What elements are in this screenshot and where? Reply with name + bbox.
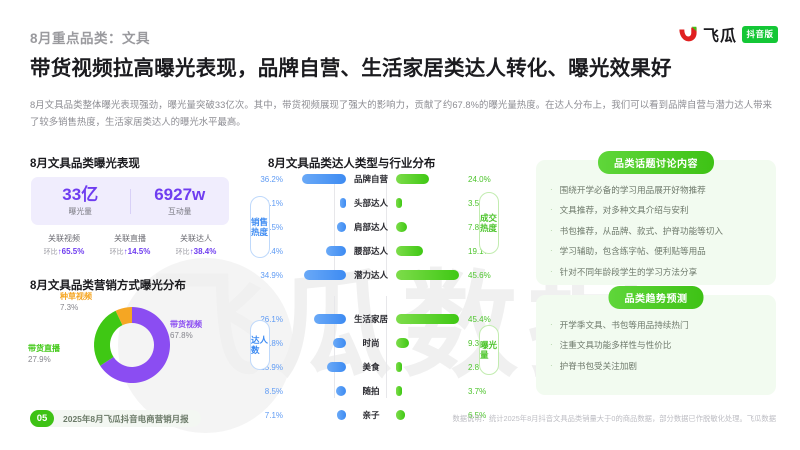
donut-label-0: 带货视频67.8% — [170, 320, 202, 342]
topic-panel-title: 品类话题讨论内容 — [598, 151, 714, 174]
trend-panel-title: 品类趋势预测 — [609, 286, 704, 309]
donut-label-value: 27.9% — [28, 355, 60, 366]
intro-paragraph: 8月文具品类整体曝光表现强劲，曝光量突破33亿次。其中，带货视频展现了强大的影响… — [30, 96, 772, 131]
brand-name: 飞瓜 — [703, 22, 737, 46]
bar-category-label: 腰部达人 — [346, 245, 396, 257]
sub-stat-live-delta: 环比↑14.5% — [97, 247, 163, 257]
sub-stat-video-value: ↑65.5% — [58, 247, 85, 256]
marketing-donut-chart: 带货视频67.8% 带货直播27.9% 种草视频7.3% — [28, 292, 243, 404]
sub-stat-creator-delta: 环比↑38.4% — [163, 247, 229, 257]
panel-list-item-text: 书包推荐，从品牌、款式、护脊功能等切入 — [560, 225, 723, 238]
feigua-swoosh-icon — [678, 25, 698, 43]
sub-stat-video-prefix: 环比 — [44, 249, 58, 256]
panel-list-item: ·注重文具功能多样性与性价比 — [550, 339, 762, 352]
bar-row: 34.9%潜力达人45.6% — [246, 268, 496, 282]
bar-category-label: 品牌自营 — [346, 173, 396, 185]
axis-pill-exposure-label: 曝光量 — [480, 340, 498, 360]
bar-row: 5.1%头部达人3.5% — [246, 196, 496, 210]
bar-right-track — [396, 386, 464, 396]
sub-stat-creator-prefix: 环比 — [176, 249, 190, 256]
bar-right-track — [396, 362, 464, 372]
sub-stat-creator-label: 关联达人 — [163, 233, 229, 244]
panel-list-item: ·护脊书包受关注加剧 — [550, 360, 762, 373]
sub-stat-live-value: ↑14.5% — [124, 247, 151, 256]
bar-category-label: 肩部达人 — [346, 221, 396, 233]
bar-right-fill — [396, 338, 409, 348]
bar-right-track — [396, 270, 464, 280]
bar-row: 7.5%肩部达人7.8% — [246, 220, 496, 234]
axis-pill-exposure: 曝光量 — [479, 325, 499, 375]
panel-list-item-text: 注重文具功能多样性与性价比 — [560, 339, 672, 352]
sub-stat-video-label: 关联视频 — [31, 233, 97, 244]
sub-stats-row: 关联视频 环比↑65.5% 关联直播 环比↑14.5% 关联达人 环比↑38.4… — [31, 233, 229, 257]
panel-list-item-text: 文具推荐，对多种文具介绍与安利 — [560, 204, 689, 217]
panel-list-item-text: 学习辅助，包含练字帖、便利贴等用品 — [560, 245, 706, 258]
axis-pill-creator-count-label: 达人数 — [251, 335, 269, 355]
left-section1-title: 8月文具品类曝光表现 — [30, 155, 140, 171]
donut-label-1: 带货直播27.9% — [28, 344, 60, 366]
bar-left-track — [288, 410, 346, 420]
stat-exposure-value: 33亿 — [31, 185, 130, 205]
bar-right-track — [396, 246, 464, 256]
donut-label-value: 67.8% — [170, 331, 202, 342]
axis-pill-deal-heat-label: 成交热度 — [480, 213, 498, 233]
donut-label-name: 带货视频 — [170, 320, 202, 331]
bar-left-track — [288, 174, 346, 184]
stat-interaction: 6927w 互动量 — [131, 185, 230, 218]
bar-row: 36.2%品牌自营24.0% — [246, 172, 496, 186]
data-note: 数据说明：统计2025年8月抖音文具品类销量大于0的商品数据，部分数据已作脱敏化… — [452, 414, 776, 424]
bar-right-value: 3.7% — [464, 387, 486, 396]
topic-panel-list: ·围绕开学必备的学习用品展开好物推荐·文具推荐，对多种文具介绍与安利·书包推荐，… — [536, 160, 776, 278]
bar-right-fill — [396, 314, 459, 324]
brand-logo: 飞瓜 抖音版 — [678, 22, 778, 46]
donut-label-2: 种草视频7.3% — [60, 292, 92, 314]
bar-right-value: 45.6% — [464, 271, 491, 280]
bar-right-fill — [396, 410, 405, 420]
bullet-icon: · — [550, 204, 553, 216]
bar-right-value: 24.0% — [464, 175, 491, 184]
bullet-icon: · — [550, 225, 553, 237]
panel-list-item-text: 针对不同年龄段学生的学习方法分享 — [560, 266, 698, 279]
stat-exposure-label: 曝光量 — [31, 206, 130, 217]
stat-exposure: 33亿 曝光量 — [31, 185, 130, 218]
panel-list-item: ·书包推荐，从品牌、款式、护脊功能等切入 — [550, 225, 762, 238]
sub-stat-creator: 关联达人 环比↑38.4% — [163, 233, 229, 257]
trend-panel: 品类趋势预测 ·开学季文具、书包等用品持续热门·注重文具功能多样性与性价比·护脊… — [536, 295, 776, 395]
bar-left-fill — [337, 410, 346, 420]
footer-pill: 05 2025年8月飞瓜抖音电商营销月报 — [30, 410, 201, 427]
bullet-icon: · — [550, 245, 553, 257]
bullet-icon: · — [550, 184, 553, 196]
donut-label-name: 带货直播 — [28, 344, 60, 355]
panel-list-item: ·围绕开学必备的学习用品展开好物推荐 — [550, 184, 762, 197]
bar-left-track — [288, 270, 346, 280]
bar-right-track — [396, 198, 464, 208]
bullet-icon: · — [550, 339, 553, 351]
sub-stat-video: 关联视频 环比↑65.5% — [31, 233, 97, 257]
bar-left-fill — [336, 386, 346, 396]
sub-stat-live: 关联直播 环比↑14.5% — [97, 233, 163, 257]
report-page: 飞瓜数据 8月重点品类：文具 带货视频拉高曝光表现，品牌自营、生活家居类达人转化… — [0, 0, 800, 450]
page-title: 带货视频拉高曝光表现，品牌自营、生活家居类达人转化、曝光效果好 — [30, 51, 672, 81]
bar-left-track — [288, 362, 346, 372]
bar-left-track — [288, 314, 346, 324]
donut-slice-1 — [94, 311, 123, 366]
axis-pill-deal-heat: 成交热度 — [479, 192, 499, 254]
bullet-icon: · — [550, 360, 553, 372]
bar-right-track — [396, 338, 464, 348]
panel-list-item: ·学习辅助，包含练字帖、便利贴等用品 — [550, 245, 762, 258]
middle-chart-title: 8月文具品类达人类型与行业分布 — [268, 155, 435, 171]
report-name: 2025年8月飞瓜抖音电商营销月报 — [54, 413, 189, 425]
donut-label-value: 7.3% — [60, 303, 92, 314]
bar-right-value: 45.4% — [464, 315, 491, 324]
left-section2-title: 8月文具品类营销方式曝光分布 — [30, 277, 186, 293]
sub-stat-live-prefix: 环比 — [110, 249, 124, 256]
exposure-stat-card: 33亿 曝光量 6927w 互动量 — [31, 177, 229, 225]
topic-panel: 品类话题讨论内容 ·围绕开学必备的学习用品展开好物推荐·文具推荐，对多种文具介绍… — [536, 160, 776, 285]
bar-row: 10.8%时尚9.3% — [246, 336, 496, 350]
bar-category-label: 随拍 — [346, 385, 396, 397]
panel-list-item-text: 护脊书包受关注加剧 — [560, 360, 637, 373]
bar-left-value: 7.1% — [246, 411, 288, 420]
bullet-icon: · — [550, 319, 553, 331]
bar-category-label: 美食 — [346, 361, 396, 373]
bar-left-fill — [304, 270, 346, 280]
bar-right-track — [396, 174, 464, 184]
bar-left-fill — [337, 222, 346, 232]
panel-list-item-text: 围绕开学必备的学习用品展开好物推荐 — [560, 184, 706, 197]
bar-right-fill — [396, 362, 402, 372]
bar-row: 26.1%生活家居45.4% — [246, 312, 496, 326]
bar-category-label: 时尚 — [346, 337, 396, 349]
bar-left-track — [288, 222, 346, 232]
bar-category-label: 亲子 — [346, 409, 396, 421]
bar-category-label: 头部达人 — [346, 197, 396, 209]
bar-right-fill — [396, 222, 407, 232]
bar-left-track — [288, 198, 346, 208]
panel-list-item: ·文具推荐，对多种文具介绍与安利 — [550, 204, 762, 217]
bar-row: 16.4%腰部达人19.1% — [246, 244, 496, 258]
bar-left-value: 8.5% — [246, 387, 288, 396]
axis-pill-sales-heat-label: 销售热度 — [251, 217, 269, 237]
stat-interaction-value: 6927w — [131, 185, 230, 205]
bar-right-fill — [396, 270, 459, 280]
bar-left-fill — [327, 362, 346, 372]
bar-right-fill — [396, 386, 402, 396]
bar-right-fill — [396, 246, 423, 256]
bar-right-fill — [396, 174, 429, 184]
sub-stat-creator-value: ↑38.4% — [190, 247, 217, 256]
bar-category-label: 潜力达人 — [346, 269, 396, 281]
bar-right-track — [396, 314, 464, 324]
sub-stat-live-label: 关联直播 — [97, 233, 163, 244]
bar-left-value: 36.2% — [246, 175, 288, 184]
bar-left-fill — [326, 246, 346, 256]
panel-list-item-text: 开学季文具、书包等用品持续热门 — [560, 319, 689, 332]
bar-right-fill — [396, 198, 402, 208]
bar-left-value: 34.9% — [246, 271, 288, 280]
brand-badge: 抖音版 — [742, 26, 778, 43]
bar-left-track — [288, 386, 346, 396]
bar-left-fill — [302, 174, 346, 184]
sub-stat-video-delta: 环比↑65.5% — [31, 247, 97, 257]
bar-left-fill — [314, 314, 346, 324]
bar-left-track — [288, 246, 346, 256]
kicker-label: 8月重点品类：文具 — [30, 27, 150, 47]
bar-left-fill — [333, 338, 346, 348]
bullet-icon: · — [550, 266, 553, 278]
bar-category-label: 生活家居 — [346, 313, 396, 325]
bar-row: 15.9%美食2.8% — [246, 360, 496, 374]
axis-pill-creator-count: 达人数 — [250, 320, 270, 370]
page-number-badge: 05 — [30, 410, 54, 427]
panel-list-item: ·开学季文具、书包等用品持续热门 — [550, 319, 762, 332]
donut-label-name: 种草视频 — [60, 292, 92, 303]
axis-pill-sales-heat: 销售热度 — [250, 196, 270, 258]
bar-left-track — [288, 338, 346, 348]
bar-right-track — [396, 222, 464, 232]
bar-row: 8.5%随拍3.7% — [246, 384, 496, 398]
diverging-bar-chart: 36.2%品牌自营24.0%5.1%头部达人3.5%7.5%肩部达人7.8%16… — [246, 172, 496, 402]
panel-list-item: ·针对不同年龄段学生的学习方法分享 — [550, 266, 762, 279]
stat-interaction-label: 互动量 — [131, 206, 230, 217]
